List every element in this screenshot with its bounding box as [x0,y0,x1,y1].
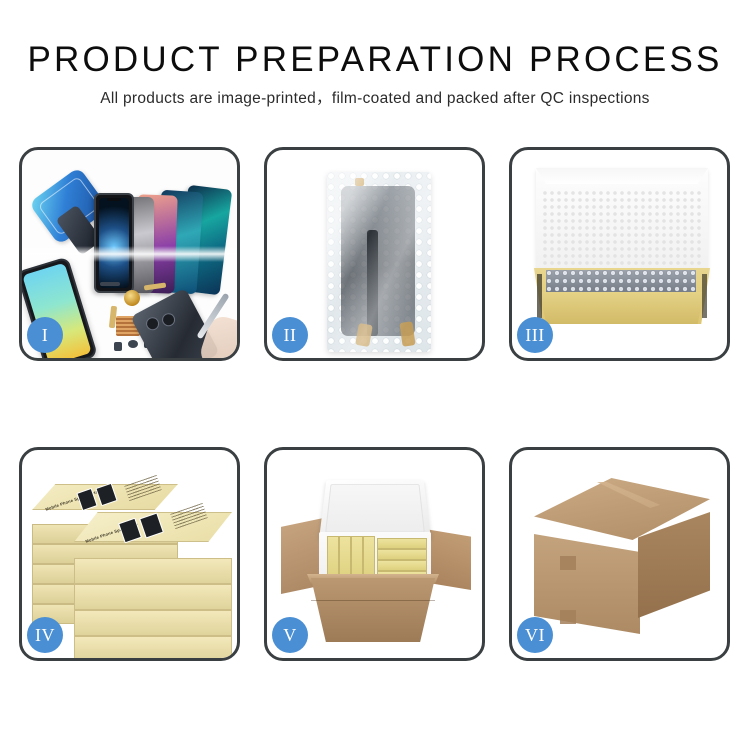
front-box-4 [74,636,232,658]
carton-fold-line [311,600,435,601]
bubble-wrap-bag [327,172,431,352]
carton-seal-lower [560,610,576,624]
process-step-3-open-foam-box: III [509,147,730,361]
camera-lens-1-icon [144,315,162,333]
tray-left-edge [537,274,542,318]
front-box-3 [74,610,232,636]
front-box-stack [74,534,232,658]
camera-lens-2-icon [160,311,178,329]
kraft-tray-front [536,292,708,324]
chip-part-3 [114,342,122,351]
carton-front-face [534,534,640,634]
front-box-1 [74,558,232,584]
process-step-4-stacked-boxes: Mobile Phone Spare Parts Mobile Phone Sp… [19,447,240,661]
front-box-2 [74,584,232,610]
phone-display-1-front-glass [94,193,134,293]
process-step-6-sealed-carton: VI [509,447,730,661]
yellow-box-5 [377,538,427,549]
gold-coil-part [124,290,140,306]
process-step-5-carton-with-foam: V [264,447,485,661]
step-badge-4: IV [27,617,63,653]
carton-seal-upper [560,556,576,570]
foam-box-lid [319,480,431,538]
process-step-1-phone-parts: I [19,147,240,361]
chip-part-4 [128,340,138,348]
step-badge-5: V [272,617,308,653]
page-subtitle: All products are image-printed，film-coat… [0,80,750,109]
tray-right-edge [702,274,707,318]
page-title: PRODUCT PREPARATION PROCESS [0,0,750,80]
step-badge-2: II [272,317,308,353]
product-preparation-infographic: PRODUCT PREPARATION PROCESS All products… [0,0,750,750]
plastic-sheen [327,172,431,352]
step-badge-3: III [517,317,553,353]
foam-sheet [542,190,702,272]
process-step-grid: I II [19,147,731,695]
step-badge-6: VI [517,617,553,653]
yellow-box-6 [377,549,427,560]
phone-display-fan [94,168,237,293]
chip-part-1 [100,282,120,286]
carton-body [311,578,435,642]
notch-icon [107,198,121,201]
header: PRODUCT PREPARATION PROCESS All products… [0,0,750,109]
process-step-2-bubble-bag: II [264,147,485,361]
yellow-box-7 [377,560,427,571]
step-badge-1: I [27,317,63,353]
